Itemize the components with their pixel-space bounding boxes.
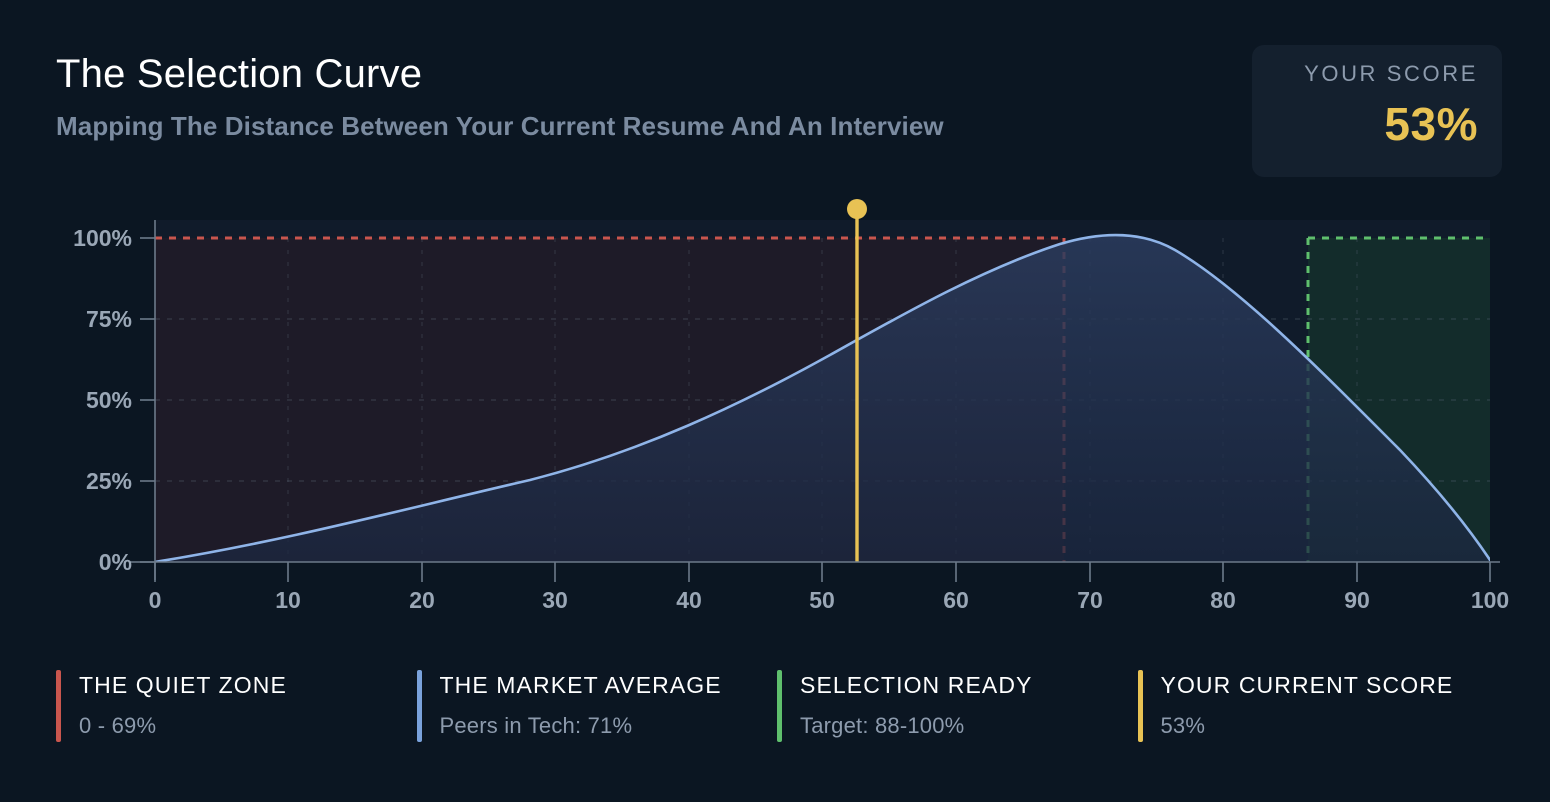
y-axis-ticks bbox=[140, 238, 155, 562]
x-tick-label: 100 bbox=[1471, 587, 1509, 613]
y-tick-label: 50% bbox=[86, 387, 132, 413]
page-title: The Selection Curve bbox=[56, 52, 1236, 97]
x-tick-label: 20 bbox=[409, 587, 435, 613]
legend: THE QUIET ZONE 0 - 69% THE MARKET AVERAG… bbox=[56, 670, 1516, 742]
x-tick-label: 70 bbox=[1077, 587, 1103, 613]
legend-color-swatch bbox=[56, 670, 61, 742]
legend-subtitle: 0 - 69% bbox=[79, 713, 287, 739]
x-axis-tick-labels: 0 10 20 30 40 50 60 70 80 90 100 bbox=[149, 587, 1510, 613]
legend-color-swatch bbox=[777, 670, 782, 742]
your-score-marker-dot bbox=[847, 199, 867, 219]
legend-color-swatch bbox=[417, 670, 422, 742]
legend-item-market-average: THE MARKET AVERAGE Peers in Tech: 71% bbox=[417, 670, 778, 742]
y-tick-label: 25% bbox=[86, 468, 132, 494]
y-tick-label: 100% bbox=[73, 225, 132, 251]
legend-title: SELECTION READY bbox=[800, 672, 1033, 700]
legend-item-selection-ready: SELECTION READY Target: 88-100% bbox=[777, 670, 1138, 742]
legend-text-group: SELECTION READY Target: 88-100% bbox=[800, 670, 1033, 742]
x-tick-label: 60 bbox=[943, 587, 969, 613]
x-tick-label: 40 bbox=[676, 587, 702, 613]
x-tick-label: 30 bbox=[542, 587, 568, 613]
legend-text-group: THE QUIET ZONE 0 - 69% bbox=[79, 670, 287, 742]
x-tick-label: 50 bbox=[809, 587, 835, 613]
score-badge-label: YOUR SCORE bbox=[1276, 63, 1478, 85]
x-tick-label: 10 bbox=[275, 587, 301, 613]
x-tick-label: 80 bbox=[1210, 587, 1236, 613]
legend-title: YOUR CURRENT SCORE bbox=[1161, 672, 1454, 700]
legend-text-group: YOUR CURRENT SCORE 53% bbox=[1161, 670, 1454, 742]
score-badge-value: 53% bbox=[1276, 101, 1478, 147]
x-axis-ticks bbox=[155, 562, 1490, 582]
legend-text-group: THE MARKET AVERAGE Peers in Tech: 71% bbox=[440, 670, 722, 742]
y-tick-label: 0% bbox=[99, 549, 132, 575]
legend-color-swatch bbox=[1138, 670, 1143, 742]
legend-item-quiet-zone: THE QUIET ZONE 0 - 69% bbox=[56, 670, 417, 742]
legend-item-your-current-score: YOUR CURRENT SCORE 53% bbox=[1138, 670, 1517, 742]
selection-curve-infographic: The Selection Curve Mapping The Distance… bbox=[0, 0, 1550, 802]
page-subtitle: Mapping The Distance Between Your Curren… bbox=[56, 111, 1236, 142]
legend-subtitle: Target: 88-100% bbox=[800, 713, 1033, 739]
selection-curve-chart: 100% 75% 50% 25% 0% bbox=[0, 180, 1550, 630]
chart-plot-area: 100% 75% 50% 25% 0% bbox=[0, 180, 1550, 630]
legend-title: THE MARKET AVERAGE bbox=[440, 672, 722, 700]
header: The Selection Curve Mapping The Distance… bbox=[56, 52, 1236, 142]
y-axis-tick-labels: 100% 75% 50% 25% 0% bbox=[73, 225, 132, 575]
score-badge: YOUR SCORE 53% bbox=[1252, 45, 1502, 177]
legend-title: THE QUIET ZONE bbox=[79, 672, 287, 700]
legend-subtitle: 53% bbox=[1161, 713, 1454, 739]
legend-subtitle: Peers in Tech: 71% bbox=[440, 713, 722, 739]
x-tick-label: 90 bbox=[1344, 587, 1370, 613]
y-tick-label: 75% bbox=[86, 306, 132, 332]
x-tick-label: 0 bbox=[149, 587, 162, 613]
